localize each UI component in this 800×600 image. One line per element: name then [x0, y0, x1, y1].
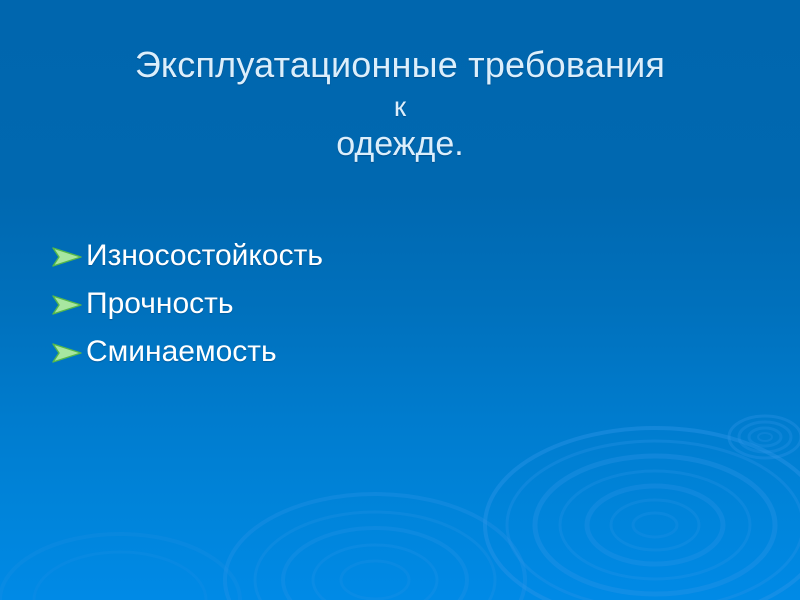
- list-item-label: Износостойкость: [86, 239, 323, 273]
- list-item: Прочность: [48, 280, 648, 328]
- ripple-medium: [225, 494, 525, 600]
- bullet-list: Износостойкость Прочность Сминаемость: [48, 232, 648, 376]
- ripple-small: [729, 416, 800, 458]
- list-item: Износостойкость: [48, 232, 648, 280]
- arrow-right-bullet-icon: [48, 290, 86, 320]
- list-item: Сминаемость: [48, 328, 648, 376]
- slide-title: Эксплуатационные требования к одежде.: [40, 46, 760, 163]
- title-line-2: к: [40, 92, 760, 121]
- presentation-slide: Эксплуатационные требования к одежде. Из…: [0, 0, 800, 600]
- ripple-edge: [0, 534, 240, 600]
- arrow-right-bullet-icon: [48, 338, 86, 368]
- list-item-label: Прочность: [86, 287, 234, 321]
- ripple-large: [485, 428, 800, 600]
- title-line-3: одежде.: [40, 127, 760, 163]
- list-item-label: Сминаемость: [86, 335, 277, 369]
- title-line-1: Эксплуатационные требования: [40, 46, 760, 84]
- arrow-right-bullet-icon: [48, 242, 86, 272]
